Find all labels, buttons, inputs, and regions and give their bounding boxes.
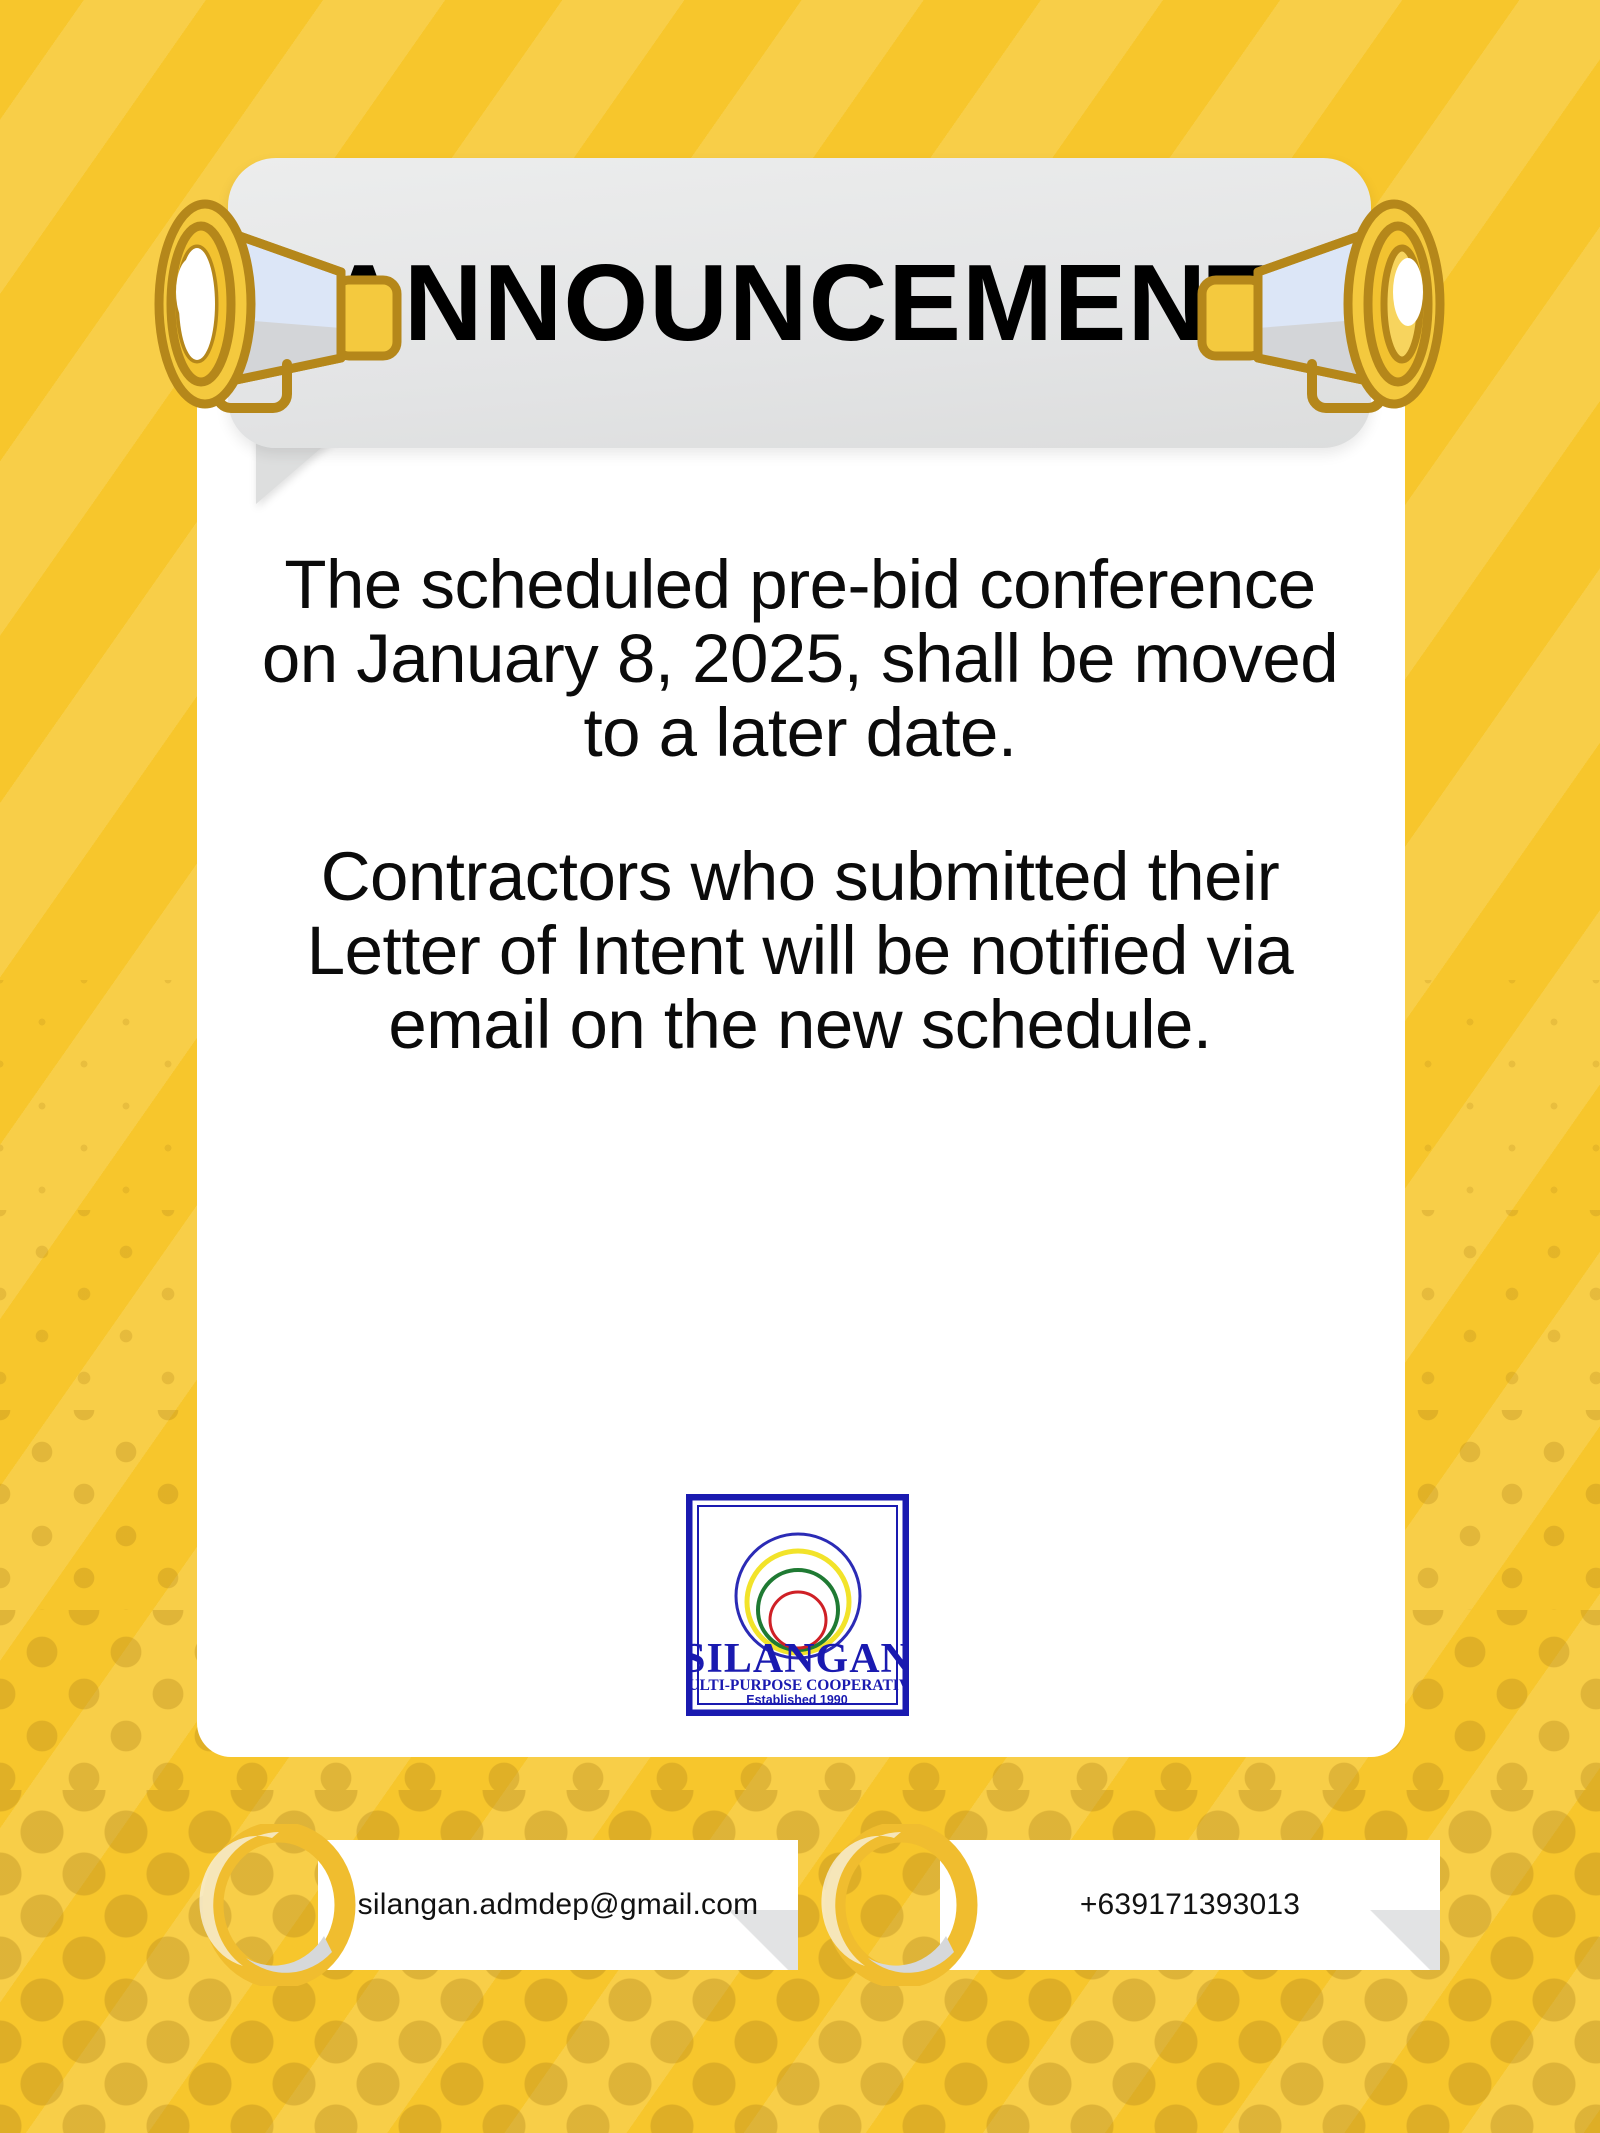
contact-email[interactable]: silangan.admdep@gmail.com	[198, 1840, 798, 1970]
contact-bar-row: silangan.admdep@gmail.com +639171393013	[0, 1840, 1600, 2000]
email-text: silangan.admdep@gmail.com	[318, 1840, 798, 1970]
logo-subtitle: MULTI-PURPOSE COOPERATIVE	[686, 1677, 909, 1694]
logo-name: SILANGAN	[686, 1636, 909, 1682]
announcement-poster: ANNOUNCEMENT The scheduled pre-bid confe…	[0, 0, 1600, 2133]
logo-established: Established 1990	[746, 1693, 847, 1707]
contact-phone[interactable]: +639171393013	[820, 1840, 1440, 1970]
silangan-logo: SILANGAN MULTI-PURPOSE COOPERATIVE Estab…	[686, 1494, 909, 1716]
megaphone-icon-right	[1186, 188, 1506, 423]
header-banner: ANNOUNCEMENT	[228, 158, 1371, 458]
announcement-paragraph-1: The scheduled pre-bid conference on Janu…	[250, 548, 1350, 769]
megaphone-icon-left	[93, 188, 413, 423]
announcement-paragraph-2: Contractors who submitted their Letter o…	[250, 840, 1350, 1061]
announcement-body: The scheduled pre-bid conference on Janu…	[250, 548, 1350, 1061]
phone-text: +639171393013	[940, 1840, 1440, 1970]
